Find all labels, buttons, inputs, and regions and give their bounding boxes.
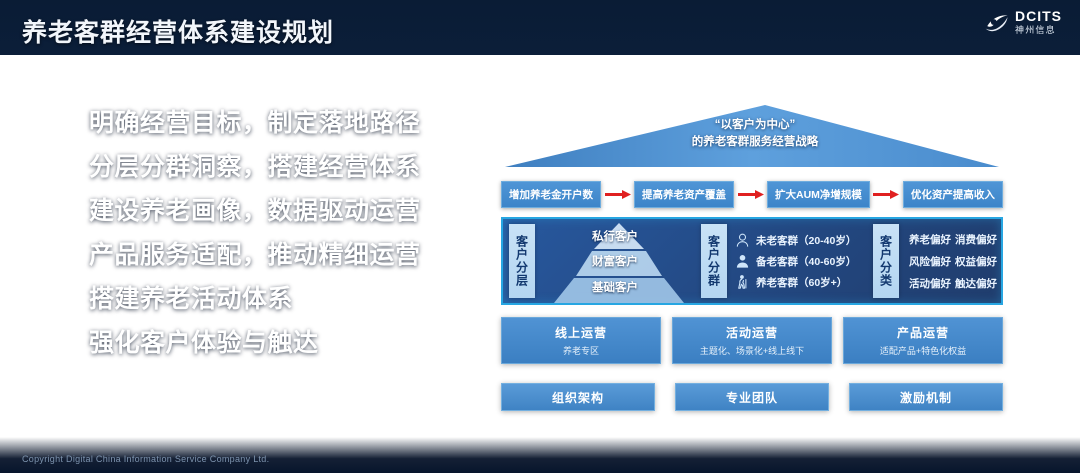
list-item: 备老客群（40-60岁） <box>735 253 867 269</box>
pyramid-tier-label: 财富客户 <box>535 253 695 269</box>
list-item: 搭建养老活动体系 <box>62 279 482 315</box>
bullet-text: 建设养老画像，数据驱动运营 <box>89 191 421 227</box>
check-icon <box>62 288 79 307</box>
preference-tag-grid: 养老偏好 消费偏好 风险偏好 权益偏好 活动偏好 触达偏好 <box>899 219 1005 303</box>
check-icon <box>62 244 79 263</box>
foundation-card[interactable]: 组织架构 <box>501 383 655 411</box>
operations-card-subtitle: 主题化、场景化+线上线下 <box>700 344 804 357</box>
elderly-person-icon <box>735 274 750 290</box>
operations-card-subtitle: 养老专区 <box>563 344 599 357</box>
preference-tag: 风险偏好 <box>909 254 951 269</box>
operations-card[interactable]: 产品运营 适配产品+特色化权益 <box>843 317 1003 364</box>
strategy-goal-box[interactable]: 优化资产提高收入 <box>903 181 1003 208</box>
foundation-row: 组织架构 专业团队 激励机制 <box>501 383 1003 411</box>
operations-card-subtitle: 适配产品+特色化权益 <box>880 344 966 357</box>
roof-line-1: “以客户为中心” <box>495 117 1015 134</box>
check-icon <box>62 156 79 175</box>
list-item: 强化客户体验与触达 <box>62 323 482 359</box>
brand-logo: DCITS 神州信息 <box>984 9 1062 35</box>
group-text: 未老客群（20-40岁） <box>756 233 856 248</box>
preference-tag: 消费偏好 <box>955 232 997 247</box>
swoosh-icon <box>984 9 1010 35</box>
list-item: 产品服务适配，推动精细运营 <box>62 235 482 271</box>
tier-label: 客户分层 <box>509 224 535 298</box>
class-label: 客户分类 <box>873 224 899 298</box>
logo-text-cn: 神州信息 <box>1015 26 1062 35</box>
foundation-card[interactable]: 激励机制 <box>849 383 1003 411</box>
group-label: 客户分群 <box>701 224 727 298</box>
list-item: 养老客群（60岁+） <box>735 274 867 290</box>
page-title: 养老客群经营体系建设规划 <box>22 13 334 49</box>
operations-card[interactable]: 活动运营 主题化、场景化+线上线下 <box>672 317 832 364</box>
preference-tag: 养老偏好 <box>909 232 951 247</box>
footer-copyright: Copyright Digital China Information Serv… <box>22 454 269 464</box>
operations-card[interactable]: 线上运营 养老专区 <box>501 317 661 364</box>
bullet-text: 分层分群洞察，搭建经营体系 <box>89 147 421 183</box>
slide-header: 养老客群经营体系建设规划 DCITS 神州信息 <box>0 0 1080 55</box>
strategy-goal-box[interactable]: 提高养老资产覆盖 <box>634 181 734 208</box>
list-item: 分层分群洞察，搭建经营体系 <box>62 147 482 183</box>
group-text: 备老客群（40-60岁） <box>756 254 856 269</box>
young-person-icon <box>735 232 750 248</box>
right-arrow-icon <box>873 190 899 199</box>
strategy-diagram: “以客户为中心” 的养老客群服务经营战略 增加养老金开户数 提高养老资产覆盖 扩… <box>495 95 1015 435</box>
preference-tag: 活动偏好 <box>909 276 951 291</box>
bullet-text: 搭建养老活动体系 <box>89 279 293 315</box>
bullet-list: 明确经营目标，制定落地路径 分层分群洞察，搭建经营体系 建设养老画像，数据驱动运… <box>62 103 482 359</box>
bullet-text: 明确经营目标，制定落地路径 <box>89 103 421 139</box>
customer-tier-pyramid: 私行客户 财富客户 基础客户 <box>535 219 695 303</box>
right-arrow-icon <box>605 190 631 199</box>
strategy-goal-row: 增加养老金开户数 提高养老资产覆盖 扩大AUM净增规模 优化资产提高收入 <box>501 181 1003 208</box>
bullet-text: 强化客户体验与触达 <box>89 323 319 359</box>
operations-card-title: 线上运营 <box>555 324 607 341</box>
operations-card-title: 活动运营 <box>726 324 778 341</box>
operations-row: 线上运营 养老专区 活动运营 主题化、场景化+线上线下 产品运营 适配产品+特色… <box>501 317 1003 364</box>
logo-text-en: DCITS <box>1015 9 1062 23</box>
adult-person-icon <box>735 253 750 269</box>
list-item: 未老客群（20-40岁） <box>735 232 867 248</box>
list-item: 建设养老画像，数据驱动运营 <box>62 191 482 227</box>
pyramid-tier-label: 基础客户 <box>535 279 695 295</box>
preference-tag: 权益偏好 <box>955 254 997 269</box>
list-item: 明确经营目标，制定落地路径 <box>62 103 482 139</box>
group-text: 养老客群（60岁+） <box>756 275 847 290</box>
roof-line-2: 的养老客群服务经营战略 <box>495 134 1015 151</box>
check-icon <box>62 332 79 351</box>
check-icon <box>62 200 79 219</box>
roof-label: “以客户为中心” 的养老客群服务经营战略 <box>495 117 1015 151</box>
foundation-card[interactable]: 专业团队 <box>675 383 829 411</box>
preference-tag: 触达偏好 <box>955 276 997 291</box>
bullet-text: 产品服务适配，推动精细运营 <box>89 235 421 271</box>
slide-canvas: 养老客群经营体系建设规划 DCITS 神州信息 明确经营目标，制定落地路径 分层… <box>0 0 1080 473</box>
customer-group-list: 未老客群（20-40岁） 备老客群（40-60岁） 养老客群（60岁+ <box>727 219 867 303</box>
strategy-goal-box[interactable]: 增加养老金开户数 <box>501 181 601 208</box>
logo-text: DCITS 神州信息 <box>1015 9 1062 35</box>
pyramid-tier-label: 私行客户 <box>535 228 695 244</box>
right-arrow-icon <box>738 190 764 199</box>
check-icon <box>62 112 79 131</box>
customer-segmentation-panel: 客户分层 私行客户 财富客户 基础客户 客户分群 未老客 <box>501 217 1003 305</box>
operations-card-title: 产品运营 <box>897 324 949 341</box>
strategy-goal-box[interactable]: 扩大AUM净增规模 <box>767 181 870 208</box>
